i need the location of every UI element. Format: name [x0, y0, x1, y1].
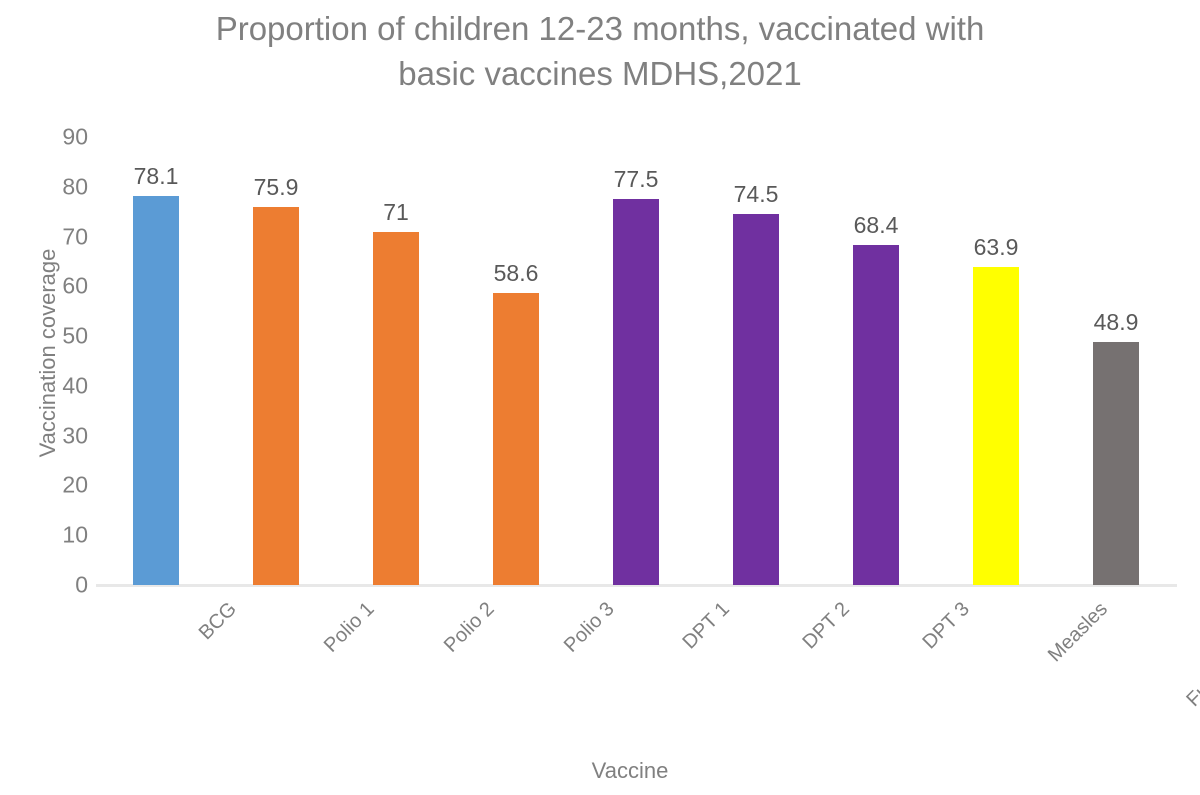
bar-value-label: 71	[336, 199, 456, 226]
chart-title: Proportion of children 12-23 months, vac…	[120, 6, 1080, 96]
bar-group: 75.9	[216, 137, 336, 585]
x-axis-category-slot: DPT 1	[576, 588, 696, 748]
x-axis-category-slot: Polio 3	[456, 588, 576, 748]
bar-group: 48.9	[1056, 137, 1176, 585]
y-axis-tick-label: 30	[28, 422, 88, 449]
plot-area: 78.175.97158.677.574.568.463.948.9	[96, 137, 1176, 585]
y-axis-tick-label: 20	[28, 472, 88, 499]
bar[interactable]	[973, 267, 1019, 585]
x-axis-category-label: Full vaccination	[1182, 598, 1200, 712]
bar-value-label: 74.5	[696, 181, 816, 208]
y-axis-tick-label: 80	[28, 173, 88, 200]
y-axis-tick-label: 10	[28, 522, 88, 549]
bar[interactable]	[853, 245, 899, 585]
y-axis-tick-label: 0	[28, 572, 88, 599]
bar[interactable]	[133, 196, 179, 585]
bar-group: 74.5	[696, 137, 816, 585]
bar-value-label: 78.1	[96, 163, 216, 190]
bar-group: 78.1	[96, 137, 216, 585]
bar-group: 63.9	[936, 137, 1056, 585]
bar-group: 71	[336, 137, 456, 585]
x-axis-title: Vaccine	[0, 758, 1200, 784]
x-axis-category-slot: Measles	[936, 588, 1056, 748]
bar-value-label: 68.4	[816, 212, 936, 239]
bar-value-label: 75.9	[216, 174, 336, 201]
bar-chart: Proportion of children 12-23 months, vac…	[0, 0, 1200, 795]
bar-value-label: 58.6	[456, 260, 576, 287]
y-axis-tick-label: 40	[28, 372, 88, 399]
y-axis-tick-label: 50	[28, 323, 88, 350]
bar-value-label: 48.9	[1056, 309, 1176, 336]
bar[interactable]	[613, 199, 659, 585]
y-axis-tick-labels: 9080706050403020100	[10, 0, 88, 795]
bar-group: 58.6	[456, 137, 576, 585]
x-axis-category-slot: DPT 2	[696, 588, 816, 748]
x-axis-category-slot: Full vaccination	[1056, 588, 1176, 748]
x-axis-category-slot: BCG	[96, 588, 216, 748]
x-axis-category-slot: DPT 3	[816, 588, 936, 748]
bar-value-label: 63.9	[936, 234, 1056, 261]
y-axis-tick-label: 90	[28, 124, 88, 151]
y-axis-tick-label: 70	[28, 223, 88, 250]
bar-value-label: 77.5	[576, 166, 696, 193]
bar[interactable]	[1093, 342, 1139, 585]
bar[interactable]	[733, 214, 779, 585]
bar[interactable]	[373, 232, 419, 585]
bar-group: 68.4	[816, 137, 936, 585]
x-axis-category-labels: BCGPolio 1Polio 2Polio 3DPT 1DPT 2DPT 3M…	[96, 588, 1176, 748]
bar-group: 77.5	[576, 137, 696, 585]
y-axis-tick-label: 60	[28, 273, 88, 300]
bar[interactable]	[493, 293, 539, 585]
x-axis-category-slot: Polio 2	[336, 588, 456, 748]
x-axis-category-slot: Polio 1	[216, 588, 336, 748]
bar[interactable]	[253, 207, 299, 585]
